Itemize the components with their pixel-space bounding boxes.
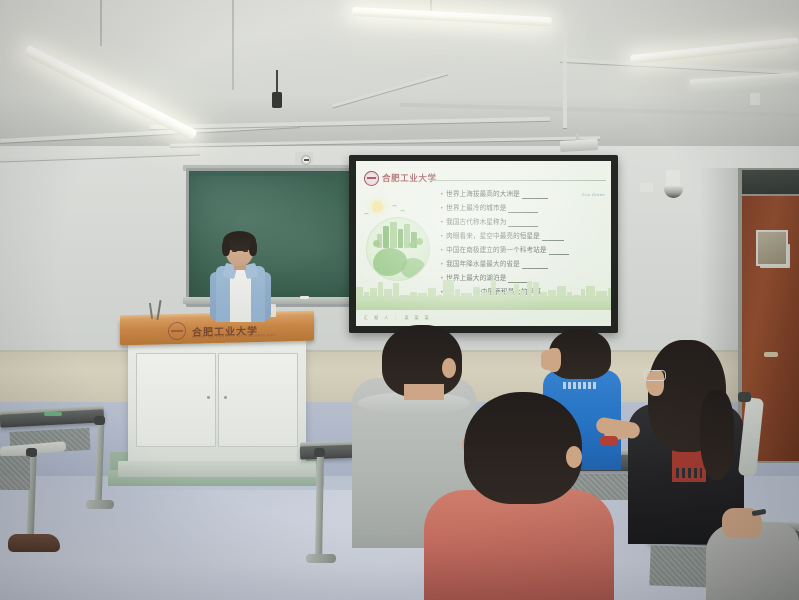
skyline-building: [370, 288, 377, 300]
slide-title-rule: [431, 180, 606, 181]
door-handle[interactable]: [764, 352, 778, 357]
skyline-building: [393, 283, 399, 300]
skyline-building: [557, 286, 566, 300]
slide-line-text: 我国年降水量最大的省是: [446, 258, 520, 268]
hanging-clamp: [272, 92, 282, 108]
skyline-building: [520, 290, 526, 300]
skyline-building: [356, 287, 363, 300]
skyline-building: [586, 286, 595, 300]
student-blue-hand-raised: [541, 350, 554, 370]
skyline-building: [455, 289, 460, 300]
skyline-building: [548, 290, 556, 300]
bullet-icon: •: [440, 234, 444, 240]
student-red-torso: [424, 490, 614, 600]
student-black-ponytail: [700, 390, 734, 480]
slide-footer-text: 汇 报 人 ： 某 某 某: [364, 315, 431, 321]
podium-base: [118, 461, 316, 477]
earth-globe-icon: [366, 217, 430, 281]
chalk-piece[interactable]: [300, 296, 309, 299]
door-transom-window: [742, 170, 799, 194]
slide-bullet-line: •世界上海拔最高的大洲是: [440, 188, 605, 199]
skyline-building: [514, 284, 519, 300]
floor-marker: [44, 412, 62, 416]
skyline-building: [573, 295, 580, 300]
presenter-eye-right: [243, 250, 248, 252]
skyline-building: [443, 280, 454, 300]
skyline-building: [461, 293, 472, 300]
ceiling-outlet: [750, 93, 760, 105]
skyline-building: [384, 289, 392, 300]
presenter-hair-side-right: [249, 240, 257, 256]
slide-line-text: 世界上海拔最高的大洲是: [446, 188, 520, 198]
slide-line-text: 世界上最冷的城市是: [446, 202, 506, 212]
sun-icon: [372, 201, 383, 212]
bullet-icon: •: [440, 192, 444, 198]
skyline-building: [364, 292, 369, 300]
slide-line-text: 我国古代称木星称为: [446, 216, 506, 226]
presenter-hair-side-left: [222, 240, 230, 256]
university-seal-icon: [364, 171, 379, 186]
slide-bullet-line: •世界上最冷的城市是: [440, 202, 605, 213]
slide-line-text: 肉眼看来，星空中最亮的恒星是: [446, 230, 540, 240]
fill-in-blank: [522, 190, 548, 199]
desk-leg-cap: [94, 416, 105, 425]
skyline-building: [540, 292, 547, 300]
desk-far-left-foot: [86, 500, 114, 509]
skyline-building: [581, 289, 585, 300]
slide-logo-text: 合肥工业大学: [382, 172, 437, 184]
podium-cabinet-right[interactable]: [218, 353, 298, 447]
skyline-building: [473, 287, 480, 300]
fill-in-blank: [522, 260, 548, 269]
bird-icon: [392, 205, 397, 209]
ceiling-riser-vertical: [563, 8, 567, 128]
slide-skyline-graphic: [356, 280, 611, 310]
skyline-building: [608, 288, 611, 300]
skyline-building: [378, 282, 383, 300]
skyline-building: [505, 291, 513, 300]
chair-far-left-seat: [0, 456, 30, 490]
skyline-building: [596, 291, 607, 300]
fill-in-blank: [508, 218, 538, 227]
skyline-building: [527, 281, 532, 300]
slide-bullet-line: •中国在南极建立的第一个科考站是: [440, 244, 605, 255]
skyline-building: [497, 292, 504, 300]
slide-line-text: 中国在南极建立的第一个科考站是: [446, 244, 546, 254]
slide-bullet-line: •我国年降水量最大的省是: [440, 258, 605, 269]
bird-icon: [400, 210, 405, 214]
ceiling-projector: [560, 139, 599, 152]
skyline-building: [400, 295, 409, 300]
skyline-building: [437, 295, 442, 300]
skyline-building: [491, 280, 496, 300]
desk-leg-cap: [314, 448, 325, 457]
wall-switch-plate[interactable]: [640, 183, 653, 192]
jacket-patch-detail: [676, 468, 702, 478]
light-hanger-1: [100, 0, 102, 46]
student-red-hair: [464, 392, 582, 504]
skyline-building: [410, 292, 417, 300]
skyline-building: [481, 292, 490, 300]
bird-icon: [364, 213, 369, 217]
light-hanger-2: [232, 0, 234, 90]
skyline-building: [533, 282, 539, 300]
bullet-icon: •: [440, 248, 444, 254]
student-red-ear: [566, 446, 582, 468]
podium-body: [128, 341, 306, 465]
classroom-photo: 合肥工业大学 Eco Green •世界上海拔最高的大洲是 •世界上最冷的城市是…: [0, 0, 799, 600]
student-gray-ear: [442, 358, 456, 378]
student-glasses-icon: [644, 370, 666, 381]
fill-in-blank: [542, 232, 564, 241]
bullet-icon: •: [440, 220, 444, 226]
eco-earth-illustration: [362, 199, 434, 271]
skyline-building: [428, 288, 436, 300]
bullet-icon: •: [440, 206, 444, 212]
bullet-icon: •: [440, 262, 444, 268]
student-red-cuff: [600, 436, 618, 446]
student-blue-back-text: [563, 382, 597, 389]
podium-cabinet-left[interactable]: [136, 353, 216, 447]
fill-in-blank: [549, 246, 569, 255]
fill-in-blank: [508, 204, 538, 213]
skyline-building: [567, 292, 572, 300]
speaker-grille-icon: [301, 155, 311, 165]
slide-bullet-line: •肉眼看来，星空中最亮的恒星是: [440, 230, 605, 241]
skyline-building: [418, 293, 427, 300]
shoe: [8, 534, 60, 552]
chair-right-cap: [738, 392, 751, 402]
projection-screen: 合肥工业大学 Eco Green •世界上海拔最高的大洲是 •世界上最冷的城市是…: [356, 161, 611, 326]
slide-bullet-line: •我国古代称木星称为: [440, 216, 605, 227]
slide-logo: 合肥工业大学: [364, 170, 484, 186]
hanging-cable: [276, 70, 278, 94]
desk-mid-left-foot: [306, 554, 336, 563]
presenter-eye-left: [232, 250, 237, 252]
wall-panel-right: [756, 230, 788, 266]
student-gray-neck: [404, 384, 444, 400]
